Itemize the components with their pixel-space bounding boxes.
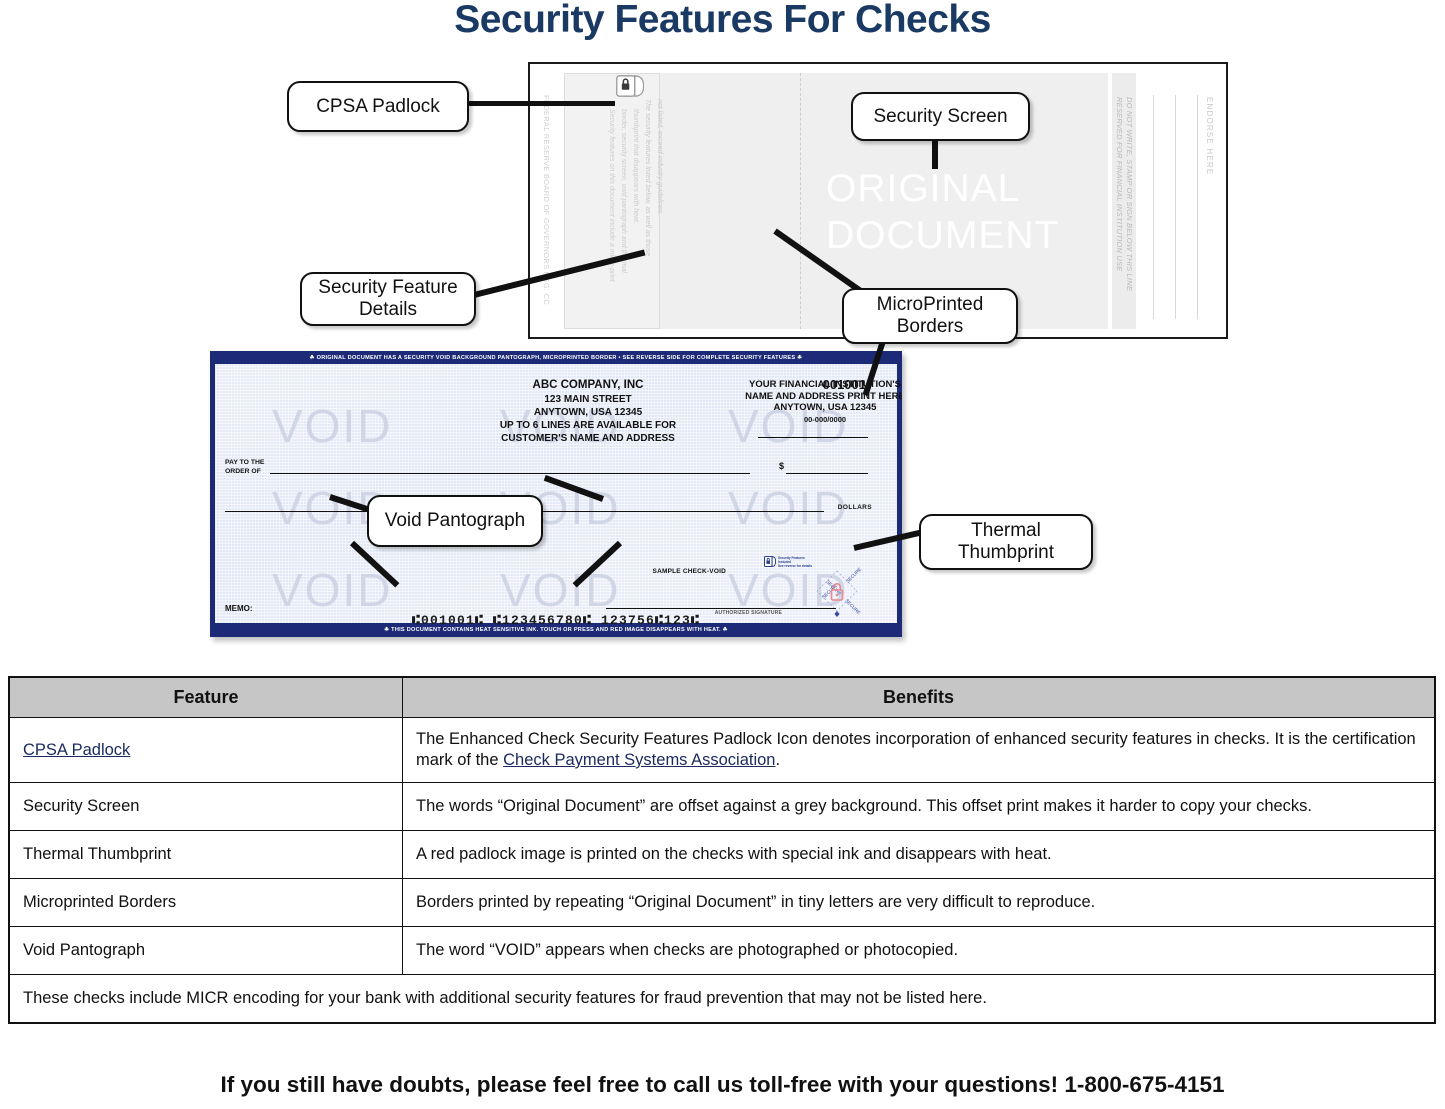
page-title: Security Features For Checks <box>0 0 1445 42</box>
link-cpsa-padlock[interactable]: CPSA Padlock <box>23 741 130 759</box>
payee-line <box>270 473 750 474</box>
features-benefits-table: Feature Benefits CPSA Padlock The Enhanc… <box>8 676 1436 1024</box>
micr-line: ⑆001001⑆ ⑆123456780⑆ 123756⑆123⑆ <box>210 613 902 628</box>
company-name: ABC COMPANY, INC <box>478 379 698 393</box>
feature-name-cell: Security Screen <box>9 783 403 831</box>
microprint-left-border <box>210 351 215 637</box>
endorse-here-text: ENDORSE HERE <box>1205 97 1214 175</box>
bank-block: YOUR FINANCIAL INSTITUTION'S NAME AND AD… <box>700 379 902 425</box>
dollars-label: DOLLARS <box>838 504 872 511</box>
security-detail-line-2: not listed, exceed industry guidelines. <box>652 99 664 335</box>
endorse-rule-3 <box>1197 95 1198 319</box>
sample-check-void-text: SAMPLE CHECK-VOID <box>653 568 726 575</box>
security-screen-watermark: ORIGINALDOCUMENT <box>826 165 1206 259</box>
void-watermark: VOID <box>500 563 620 617</box>
table-row: Thermal Thumbprint A red padlock image i… <box>9 831 1435 879</box>
callout-security-feature-details[interactable]: Security Feature Details <box>300 272 476 326</box>
leader-cpsa-padlock <box>455 101 615 106</box>
table-note-row: These checks include MICR encoding for y… <box>9 975 1435 1024</box>
memo-label: MEMO: <box>225 604 253 613</box>
benefit-cell: A red padlock image is printed on the ch… <box>403 831 1436 879</box>
void-watermark: VOID <box>272 399 392 453</box>
security-detail-line-1: The security features listed below, as w… <box>640 99 652 335</box>
pay-to-the-order-of-label: PAY TO THE ORDER OF <box>225 458 264 476</box>
svg-text:SECURE: SECURE <box>845 567 862 584</box>
footer-contact-text: If you still have doubts, please feel fr… <box>0 1072 1445 1098</box>
callout-thermal-thumbprint[interactable]: Thermal Thumbprint <box>919 514 1093 570</box>
cpsa-padlock-mini-icon <box>764 556 776 567</box>
company-block: ABC COMPANY, INC 123 MAIN STREET ANYTOWN… <box>478 379 698 445</box>
bank-line3: ANYTOWN, USA 12345 <box>700 402 902 414</box>
column-header-feature: Feature <box>9 677 403 718</box>
security-detail-line-5: thumbprint that disappears with heat. <box>628 109 640 329</box>
company-addr3: UP TO 6 LINES ARE AVAILABLE FOR <box>478 419 698 432</box>
table-header-row: Feature Benefits <box>9 677 1435 718</box>
bank-routing-fraction: 00-000/0000 <box>700 414 902 426</box>
microprint-top-border: ☘ ORIGINAL DOCUMENT HAS A SECURITY VOID … <box>210 351 902 364</box>
callout-cpsa-padlock[interactable]: CPSA Padlock <box>287 81 469 132</box>
leader-security-screen <box>932 139 938 169</box>
cpsa-padlock-icon <box>616 75 644 97</box>
security-detail-line-4: border, security screen, void pantograph… <box>616 109 628 329</box>
table-row: Security Screen The words “Original Docu… <box>9 783 1435 831</box>
callout-void-pantograph[interactable]: Void Pantograph <box>367 495 543 547</box>
security-detail-line-3: Security features on this document inclu… <box>604 109 616 329</box>
feature-name-cell: Thermal Thumbprint <box>9 831 403 879</box>
benefit-cell: The words “Original Document” are offset… <box>403 783 1436 831</box>
benefit-text-post: . <box>776 751 781 769</box>
benefit-cell: The Enhanced Check Security Features Pad… <box>403 718 1436 783</box>
feature-name-cell: CPSA Padlock <box>9 718 403 783</box>
link-check-payment-systems-association[interactable]: Check Payment Systems Association <box>503 751 775 769</box>
micr-note-text: These checks include MICR encoding for y… <box>9 975 1435 1024</box>
thermal-thumbprint-mark: SECURE SECURE SECURE SECURE <box>812 567 862 619</box>
amount-box-line <box>786 473 868 474</box>
signature-line <box>606 608 836 609</box>
company-addr4: CUSTOMER'S NAME AND ADDRESS <box>478 432 698 445</box>
company-addr2: ANYTOWN, USA 12345 <box>478 406 698 419</box>
benefit-cell: The word “VOID” appears when checks are … <box>403 927 1436 975</box>
order-of-text: ORDER OF <box>225 467 264 476</box>
dollar-sign: $ <box>779 461 784 471</box>
table-row: Void Pantograph The word “VOID” appears … <box>9 927 1435 975</box>
pay-to-the-text: PAY TO THE <box>225 458 264 467</box>
table-row: CPSA Padlock The Enhanced Check Security… <box>9 718 1435 783</box>
void-watermark: VOID <box>272 563 392 617</box>
callout-security-screen[interactable]: Security Screen <box>851 92 1030 141</box>
callout-microprinted-borders[interactable]: MicroPrinted Borders <box>842 288 1018 344</box>
company-addr1: 123 MAIN STREET <box>478 393 698 406</box>
feature-name-cell: Void Pantograph <box>9 927 403 975</box>
do-not-write-text: DO NOT WRITE, STAMP OR SIGN BELOW THIS L… <box>1114 97 1134 291</box>
void-watermark: VOID <box>728 481 848 535</box>
date-line <box>758 437 868 438</box>
endorse-rule-1 <box>1153 95 1154 319</box>
benefit-cell: Borders printed by repeating “Original D… <box>403 879 1436 927</box>
column-header-benefits: Benefits <box>403 677 1436 718</box>
check-number: 001001 <box>823 377 866 392</box>
table-row: Microprinted Borders Borders printed by … <box>9 879 1435 927</box>
bank-line2: NAME AND ADDRESS PRINT HERE <box>700 391 902 403</box>
cpsa-mini-text: Security FeaturesIncludedSee reverse for… <box>778 556 812 568</box>
endorse-rule-2 <box>1175 95 1176 319</box>
feature-name-cell: Microprinted Borders <box>9 879 403 927</box>
check-front-image: VOID VOID VOID VOID VOID VOID VOID VOID … <box>210 351 902 637</box>
microprint-dashed-line <box>800 73 801 329</box>
